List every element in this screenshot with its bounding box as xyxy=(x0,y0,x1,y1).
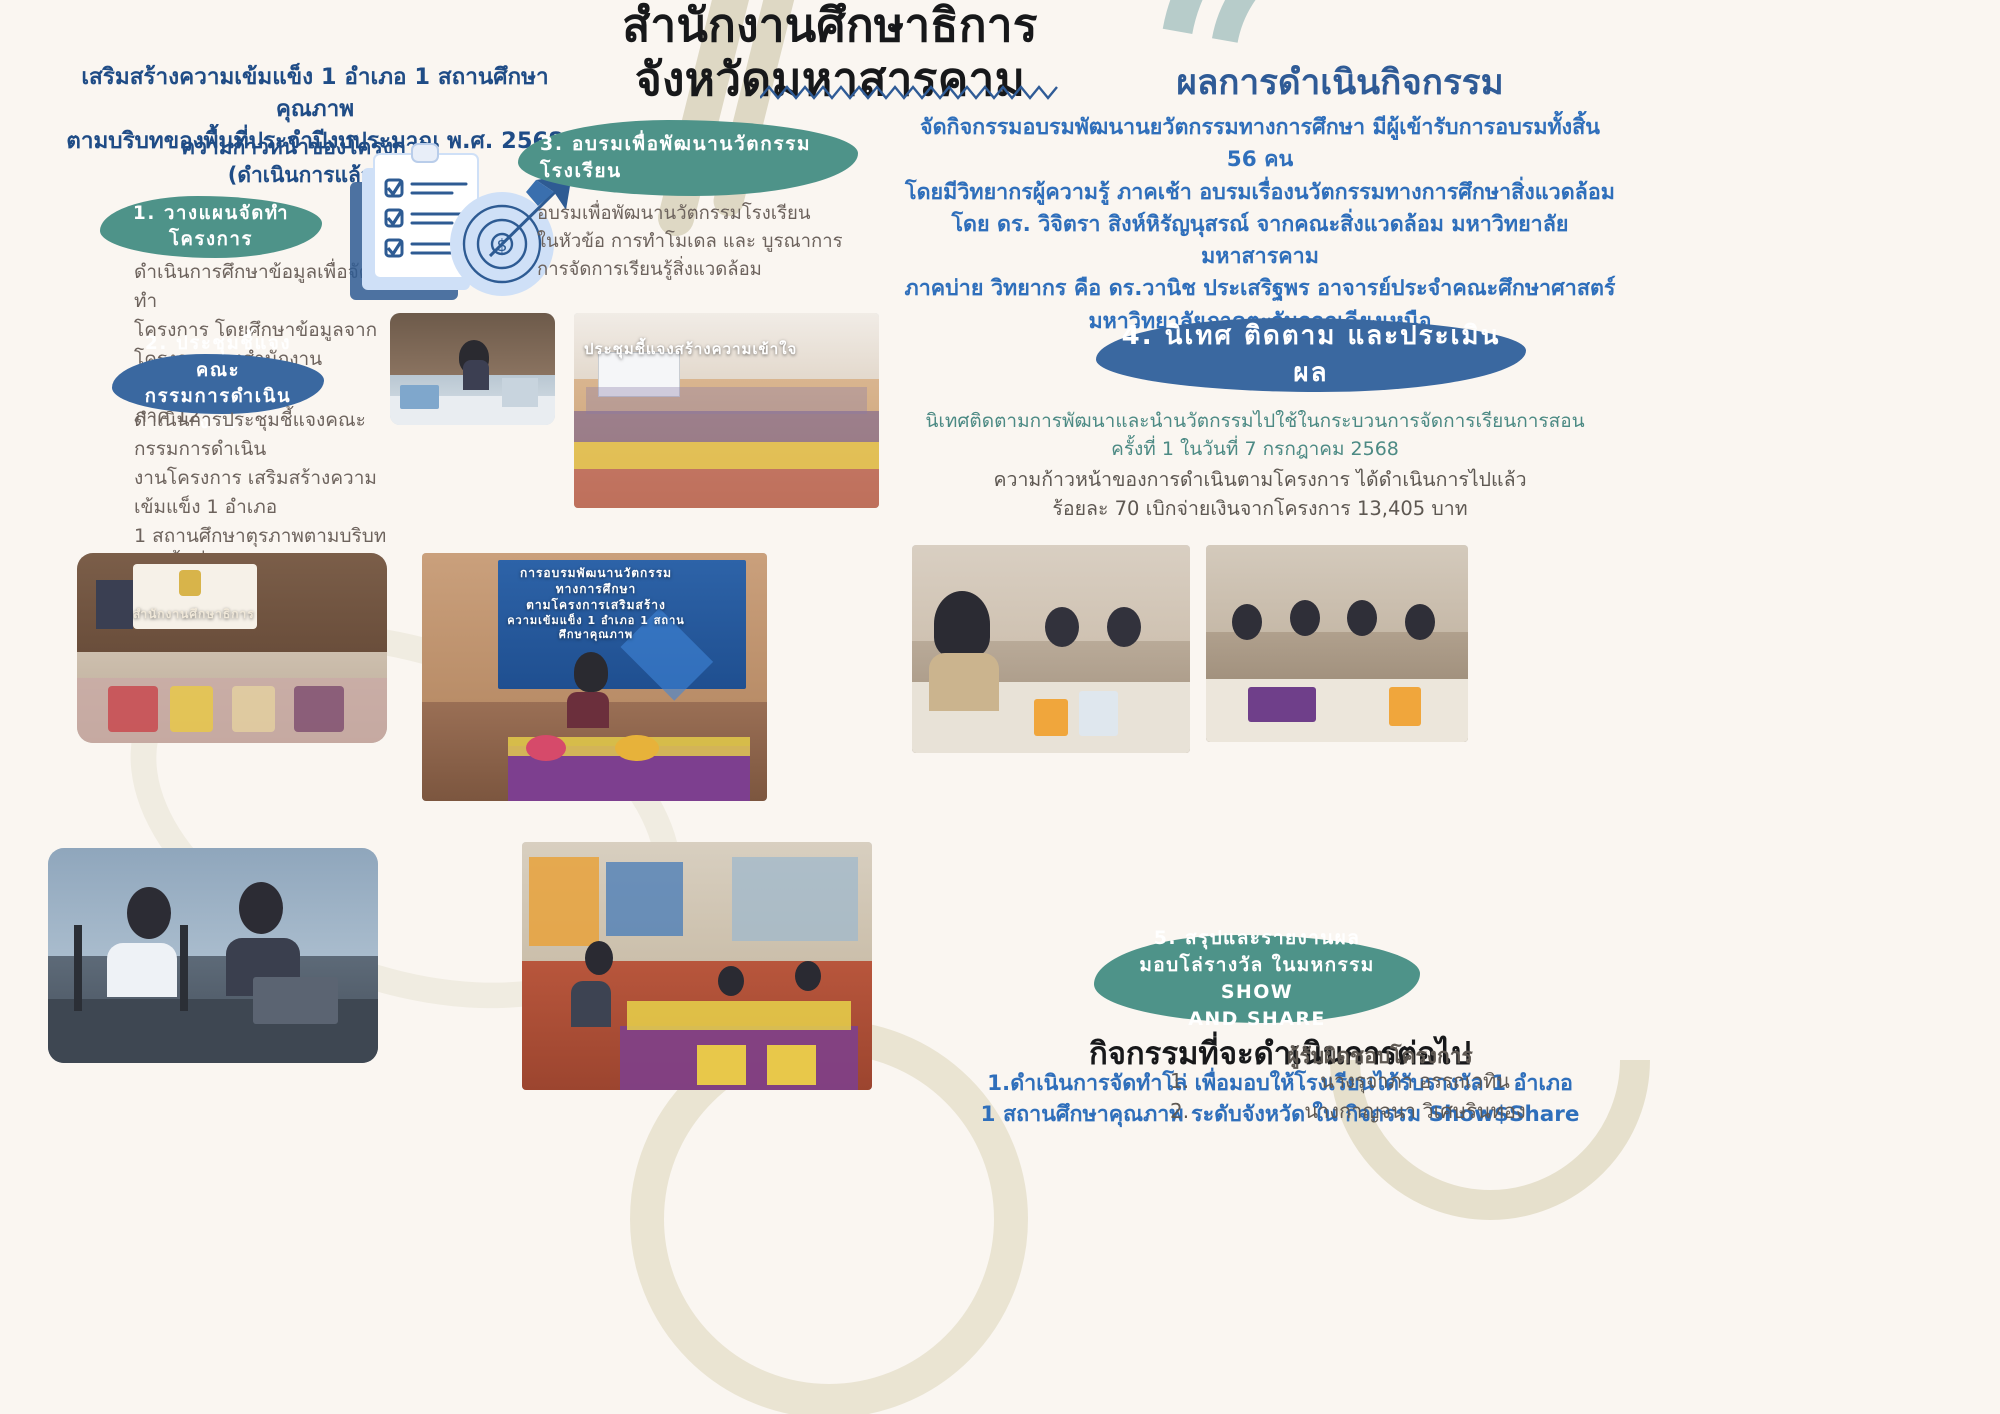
owner-number: 1. xyxy=(1150,1066,1240,1096)
step-4-label: 4. นิเทศ ติดตาม และประเมินผล xyxy=(1112,318,1510,392)
step-3-badge: 3. อบรมเพื่อพัฒนานวัตกรรม โรงเรียน xyxy=(518,120,858,196)
photo-seminar-table-left xyxy=(912,545,1190,753)
slide-line-1: การอบรมพัฒนานวัตกรรม xyxy=(506,565,686,581)
owner-list: 1. นางรุจาภา อรรถเวทิน 2. นางกาญจนา วิเศ… xyxy=(1150,1066,1590,1126)
poster-canvas: สำนักงานศึกษาธิการ จังหวัดมหาสารคาม เสริ… xyxy=(0,0,2000,1414)
photo-sign-text: สำนักงานศึกษาธิการ xyxy=(133,605,255,624)
list-item: 1. นางรุจาภา อรรถเวทิน xyxy=(1150,1066,1590,1096)
photo-caption: ประชุมชี้แจงสร้างความเข้าใจ xyxy=(584,337,797,361)
results-body: จัดกิจกรรมอบรมพัฒนานยวัตกรรมทางการศึกษา … xyxy=(900,112,1620,338)
owner-name: นางรุจาภา อรรถเวทิน xyxy=(1240,1066,1590,1096)
step-1-badge: 1. วางแผนจัดทำ โครงการ xyxy=(100,196,322,258)
owner-name: นางกาญจนา วิเศษรินทอง xyxy=(1240,1096,1590,1126)
slide-line-2: ทางการศึกษา xyxy=(506,581,686,597)
step-4-badge: 4. นิเทศ ติดตาม และประเมินผล xyxy=(1096,318,1526,392)
page-title-line1: สำนักงานศึกษาธิการ xyxy=(620,0,1040,52)
step-5-badge: 5. สรุปและรายงานผล มอบโล่รางวัล ในมหกรรม… xyxy=(1094,935,1420,1023)
step-2-badge: 2. ประชุมชี้แจงคณะ กรรมการดำเนินงาน xyxy=(112,354,324,414)
owner-number: 2. xyxy=(1150,1096,1240,1126)
step-3-label: 3. อบรมเพื่อพัฒนานวัตกรรม โรงเรียน xyxy=(540,131,811,185)
step-3-body: อบรมเพื่อพัฒนานวัตกรรมโรงเรียน ในหัวข้อ … xyxy=(537,200,857,284)
results-title: ผลการดำเนินกิจกรรม xyxy=(1060,55,1620,110)
slide-line-3: ตามโครงการเสริมสร้าง xyxy=(506,597,686,613)
photo-laptop-session xyxy=(48,848,378,1063)
photo-slide-text: การอบรมพัฒนานวัตกรรม ทางการศึกษา ตามโครง… xyxy=(506,565,686,643)
list-item: 2. นางกาญจนา วิเศษรินทอง xyxy=(1150,1096,1590,1126)
zigzag-divider xyxy=(760,82,1060,104)
step-1-label: 1. วางแผนจัดทำ โครงการ xyxy=(133,201,289,254)
photo-seminar-table-right xyxy=(1206,545,1468,742)
step-5-label: 5. สรุปและรายงานผล มอบโล่รางวัล ในมหกรรม… xyxy=(1110,925,1404,1033)
progress-text: ความก้าวหน้าของการดำเนินตามโครงการ ได้ดำ… xyxy=(930,465,1590,524)
photo-group-meeting: ประชุมชี้แจงสร้างความเข้าใจ xyxy=(574,313,879,508)
supervise-text: นิเทศติดตามการพัฒนาและนำนวัตกรรมไปใช้ในก… xyxy=(905,408,1605,463)
photo-stage-presentation: การอบรมพัฒนานวัตกรรม ทางการศึกษา ตามโครง… xyxy=(422,553,767,801)
photo-officer-desk xyxy=(390,313,555,425)
left-heading-line1: เสริมสร้างความเข้มแข็ง 1 อำเภอ 1 สถานศึก… xyxy=(60,62,570,126)
photo-office-sign: สำนักงานศึกษาธิการ xyxy=(77,553,387,743)
slide-line-4: ความเข้มแข็ง 1 อำเภอ 1 สถานศึกษาคุณภาพ xyxy=(506,614,686,644)
photo-classroom xyxy=(522,842,872,1090)
